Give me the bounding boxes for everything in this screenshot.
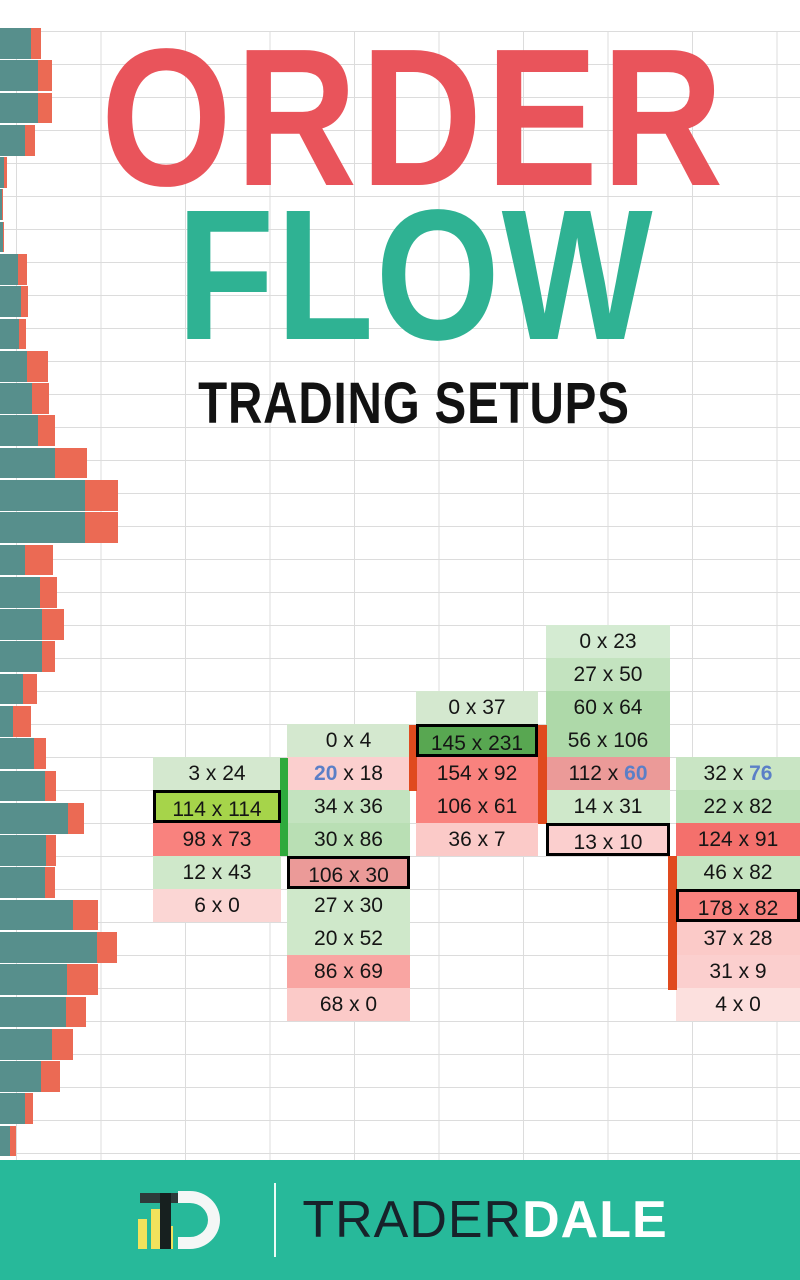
footprint-cell: 31 x 9 — [676, 955, 800, 988]
footprint-ask-volume: 50 — [619, 663, 642, 686]
footprint-ask-volume: 7 — [494, 828, 506, 851]
footprint-separator: x — [206, 828, 228, 851]
footprint-ask-volume: 69 — [360, 960, 383, 983]
footprint-cell: 0 x 37 — [416, 691, 538, 724]
footprint-bid-volume: 27 — [574, 663, 597, 686]
footprint-cell: 36 x 7 — [416, 823, 538, 856]
footprint-ask-volume: 114 — [228, 798, 261, 821]
footprint-separator: x — [337, 894, 359, 917]
down-bar-col5 — [668, 856, 677, 990]
footprint-cell: 12 x 43 — [153, 856, 281, 889]
footprint-bid-volume: 3 — [188, 762, 200, 785]
footprint-cell: 13 x 10 — [546, 823, 670, 856]
footprint-cell: 27 x 50 — [546, 658, 670, 691]
footprint-cell: 112 x 60 — [546, 757, 670, 790]
footprint-separator: x — [472, 762, 494, 785]
footprint-ask-volume: 106 — [613, 729, 648, 752]
footprint-ask-volume: 231 — [488, 732, 523, 755]
footprint-ask-volume: 31 — [619, 795, 642, 818]
footprint-separator: x — [337, 795, 359, 818]
footprint-cell: 106 x 30 — [287, 856, 410, 889]
footprint-separator: x — [597, 696, 619, 719]
footprint-bid-volume: 12 — [183, 861, 206, 884]
footprint-bid-volume: 106 — [437, 795, 472, 818]
footer-content: TRADERDALE — [0, 1160, 800, 1280]
footprint-ask-volume: 92 — [494, 762, 517, 785]
brand-trader: TRADER — [302, 1191, 522, 1249]
footprint-bid-volume: 60 — [574, 696, 597, 719]
footprint-bid-volume: 27 — [314, 894, 337, 917]
footprint-separator: x — [343, 993, 365, 1016]
footprint-bid-volume: 32 — [704, 762, 727, 785]
footprint-separator: x — [337, 960, 359, 983]
footprint-cell: 27 x 30 — [287, 889, 410, 922]
footprint-cell: 98 x 73 — [153, 823, 281, 856]
footprint-separator: x — [472, 795, 494, 818]
footprint-separator: x — [597, 663, 619, 686]
footprint-ask-volume: 37 — [482, 696, 505, 719]
footprint-ask-volume: 61 — [494, 795, 517, 818]
footprint-ask-volume: 18 — [360, 762, 383, 785]
footprint-cell: 145 x 231 — [416, 724, 538, 757]
footprint-separator: x — [460, 696, 482, 719]
up-bar-col1 — [280, 758, 288, 856]
footprint-separator: x — [727, 861, 749, 884]
footprint-bid-volume: 124 — [698, 828, 733, 851]
footprint-ask-volume: 4 — [360, 729, 372, 752]
footprint-cell: 32 x 76 — [676, 757, 800, 790]
footprint-ask-volume: 0 — [365, 993, 377, 1016]
footprint-separator: x — [727, 927, 749, 950]
footprint-cell: 86 x 69 — [287, 955, 410, 988]
footprint-bid-volume: 68 — [320, 993, 343, 1016]
footprint-bid-volume: 20 — [314, 762, 337, 785]
footprint-bid-volume: 56 — [568, 729, 591, 752]
footprint-cell: 20 x 52 — [287, 922, 410, 955]
footprint-separator: x — [337, 729, 359, 752]
footprint-cell: 0 x 4 — [287, 724, 410, 757]
footprint-cell: 14 x 31 — [546, 790, 670, 823]
footprint-cell: 4 x 0 — [676, 988, 800, 1021]
footprint-cell: 6 x 0 — [153, 889, 281, 922]
footprint-separator: x — [597, 831, 619, 854]
footprint-separator: x — [200, 762, 222, 785]
footprint-cell: 68 x 0 — [287, 988, 410, 1021]
footprint-separator: x — [206, 861, 228, 884]
footprint-ask-volume: 52 — [360, 927, 383, 950]
footprint-separator: x — [337, 927, 359, 950]
footprint-separator: x — [206, 798, 228, 821]
footprint-ask-volume: 28 — [749, 927, 772, 950]
footprint-bid-volume: 0 — [448, 696, 460, 719]
footprint-cell: 37 x 28 — [676, 922, 800, 955]
brand-wordmark: TRADERDALE — [302, 1190, 667, 1250]
footprint-bid-volume: 31 — [709, 960, 732, 983]
footprint-cell: 60 x 64 — [546, 691, 670, 724]
footprint-bid-volume: 30 — [314, 828, 337, 851]
footprint-chart: 0 x 2327 x 5060 x 6456 x 106112 x 6014 x… — [0, 0, 800, 1160]
footprint-separator: x — [733, 897, 755, 920]
footprint-ask-volume: 82 — [749, 861, 772, 884]
footprint-cell: 106 x 61 — [416, 790, 538, 823]
footprint-separator: x — [733, 828, 755, 851]
footprint-separator: x — [466, 732, 488, 755]
footprint-cell: 34 x 36 — [287, 790, 410, 823]
footprint-ask-volume: 30 — [360, 894, 383, 917]
footprint-ask-volume: 10 — [619, 831, 642, 854]
footprint-bid-volume: 114 — [172, 798, 205, 821]
footprint-bid-volume: 86 — [314, 960, 337, 983]
footprint-cell: 3 x 24 — [153, 757, 281, 790]
brand-dale: DALE — [522, 1191, 668, 1249]
footprint-bid-volume: 106 — [308, 864, 343, 887]
footprint-ask-volume: 36 — [360, 795, 383, 818]
footer-bar: TRADERDALE — [0, 1160, 800, 1280]
footprint-cell: 20 x 18 — [287, 757, 410, 790]
footprint-separator: x — [206, 894, 228, 917]
footprint-ask-volume: 0 — [749, 993, 761, 1016]
footprint-ask-volume: 64 — [619, 696, 642, 719]
footprint-bid-volume: 98 — [183, 828, 206, 851]
footprint-bid-volume: 145 — [431, 732, 466, 755]
footprint-bid-volume: 13 — [574, 831, 597, 854]
footprint-separator: x — [591, 630, 613, 653]
footprint-bid-volume: 37 — [704, 927, 727, 950]
footprint-bid-volume: 14 — [574, 795, 597, 818]
footprint-ask-volume: 73 — [228, 828, 251, 851]
footprint-bid-volume: 34 — [314, 795, 337, 818]
footprint-separator: x — [733, 960, 755, 983]
footprint-separator: x — [591, 729, 613, 752]
footprint-ask-volume: 82 — [755, 897, 778, 920]
footprint-ask-volume: 23 — [613, 630, 636, 653]
footprint-cell: 22 x 82 — [676, 790, 800, 823]
footprint-separator: x — [602, 762, 624, 785]
footprint-bid-volume: 154 — [437, 762, 472, 785]
footprint-cell: 154 x 92 — [416, 757, 538, 790]
order-flow-poster: 0 x 2327 x 5060 x 6456 x 106112 x 6014 x… — [0, 0, 800, 1280]
footprint-separator: x — [727, 993, 749, 1016]
footprint-separator: x — [727, 795, 749, 818]
footprint-ask-volume: 9 — [755, 960, 767, 983]
footprint-separator: x — [597, 795, 619, 818]
footprint-bid-volume: 0 — [326, 729, 338, 752]
footprint-ask-volume: 60 — [624, 762, 647, 785]
footprint-bid-volume: 6 — [194, 894, 206, 917]
footprint-bid-volume: 178 — [698, 897, 733, 920]
footprint-ask-volume: 24 — [222, 762, 245, 785]
footprint-separator: x — [472, 828, 494, 851]
footprint-ask-volume: 0 — [228, 894, 240, 917]
footprint-bid-volume: 4 — [715, 993, 727, 1016]
traderdale-logo-icon — [132, 1181, 260, 1259]
footprint-bid-volume: 36 — [448, 828, 471, 851]
footprint-bid-volume: 0 — [579, 630, 591, 653]
footprint-ask-volume: 86 — [360, 828, 383, 851]
footprint-cell: 56 x 106 — [546, 724, 670, 757]
footprint-bid-volume: 22 — [704, 795, 727, 818]
footprint-ask-volume: 82 — [749, 795, 772, 818]
footprint-ask-volume: 43 — [228, 861, 251, 884]
footprint-cell: 46 x 82 — [676, 856, 800, 889]
footprint-bid-volume: 46 — [704, 861, 727, 884]
footprint-ask-volume: 91 — [755, 828, 778, 851]
footprint-cell: 0 x 23 — [546, 625, 670, 658]
footprint-cell: 124 x 91 — [676, 823, 800, 856]
footprint-separator: x — [343, 864, 365, 887]
footprint-cell: 178 x 82 — [676, 889, 800, 922]
footprint-separator: x — [337, 828, 359, 851]
footprint-separator: x — [337, 762, 359, 785]
footprint-cell: 114 x 114 — [153, 790, 281, 823]
footprint-separator: x — [727, 762, 749, 785]
footprint-ask-volume: 30 — [365, 864, 388, 887]
footprint-cell: 30 x 86 — [287, 823, 410, 856]
footprint-bid-volume: 112 — [568, 762, 601, 785]
down-bar-col3 — [538, 725, 547, 824]
footprint-bid-volume: 20 — [314, 927, 337, 950]
footprint-ask-volume: 76 — [749, 762, 772, 785]
logo-divider — [274, 1183, 276, 1257]
